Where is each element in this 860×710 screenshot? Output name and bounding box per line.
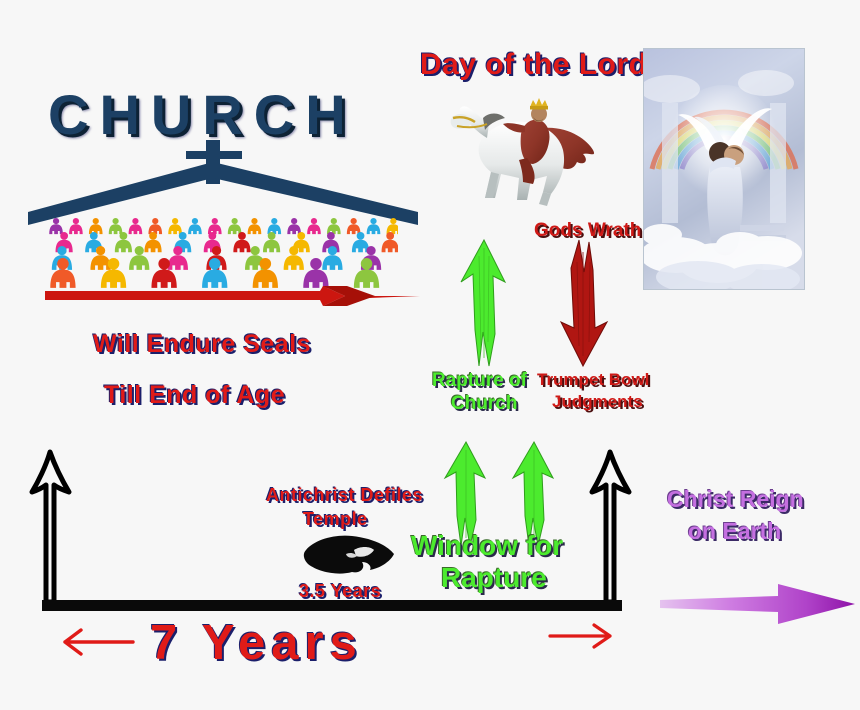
church-caption-line2: Till End of Age <box>104 381 285 410</box>
window-for-rapture-line2: Rapture <box>441 562 547 594</box>
trumpet-bowl-judgments-line2: Judgments <box>552 392 643 412</box>
church-caption-line1: Will Endure Seals <box>93 330 311 359</box>
congregation-crowd-icon <box>48 218 398 290</box>
red-right-arrow-icon <box>45 285 420 309</box>
christ-reign-line2: on Earth <box>688 518 781 545</box>
church-roof-icon <box>28 140 418 225</box>
church-title: CHURCH <box>48 82 357 147</box>
red-right-arrow-icon <box>548 616 618 654</box>
antichrist-defiles-line2: Temple <box>303 509 368 530</box>
rapture-of-church-label-line1: Rapture of <box>432 370 527 392</box>
day-of-the-lord-title: Day of the Lord <box>420 48 648 82</box>
black-up-arrow-icon <box>28 448 74 608</box>
red-down-arrow-icon <box>557 238 613 370</box>
three-and-half-years-label: 3.5 Years <box>299 581 381 602</box>
prophecy-timeline-diagram: CHURCH <box>0 0 860 710</box>
christ-reign-line1: Christ Reign <box>667 486 804 513</box>
purple-gradient-right-arrow-icon <box>660 582 855 626</box>
black-up-arrow-icon <box>588 448 634 608</box>
heaven-rainbow-angel-embrace-image <box>643 48 805 290</box>
seven-years-label: 7 Years <box>150 615 363 671</box>
antichrist-defiles-line1: Antichrist Defiles <box>266 485 423 506</box>
window-for-rapture-line1: Window for <box>411 530 563 562</box>
timeline-bar <box>42 600 622 611</box>
green-up-arrow-icon <box>455 238 513 370</box>
rapture-of-church-label-line2: Church <box>451 393 518 415</box>
black-hand-silhouette-icon <box>300 534 398 578</box>
trumpet-bowl-judgments-line1: Trumpet Bowl <box>537 370 649 390</box>
rider-on-white-horse-icon <box>447 88 607 218</box>
red-left-arrow-icon <box>55 622 135 662</box>
